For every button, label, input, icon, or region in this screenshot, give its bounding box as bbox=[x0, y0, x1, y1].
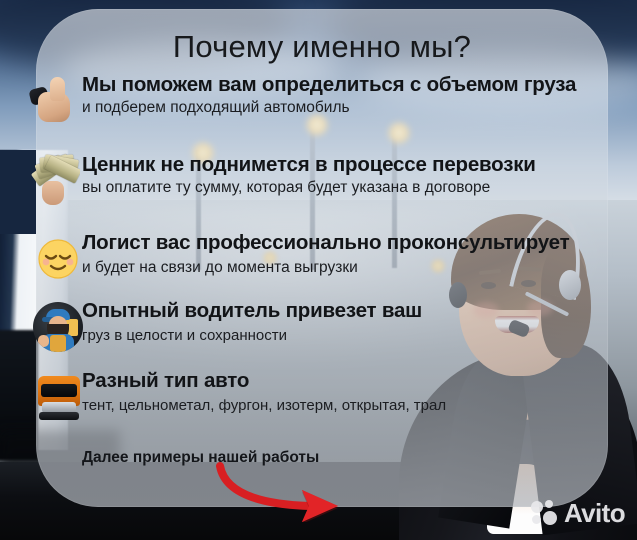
money-in-hand-icon bbox=[28, 153, 80, 205]
page-title: Почему именно мы? bbox=[36, 29, 608, 65]
relieved-face-emoji-icon bbox=[32, 233, 84, 285]
benefit-headline: Мы поможем вам определиться с объемом гр… bbox=[82, 73, 576, 97]
avito-wordmark: Avito bbox=[564, 500, 625, 526]
thumbs-up-icon bbox=[28, 75, 80, 127]
advertisement-banner: Почему именно мы? Мы поможем вам определ… bbox=[0, 0, 637, 540]
benefit-headline: Логист вас профессионально проконсультир… bbox=[82, 231, 569, 255]
benefit-headline: Ценник не поднимется в процессе перевозк… bbox=[82, 153, 536, 177]
content-card: Почему именно мы? Мы поможем вам определ… bbox=[36, 9, 608, 507]
avito-dots-icon bbox=[531, 500, 557, 526]
benefit-subline: и подберем подходящий автомобиль bbox=[82, 99, 350, 117]
benefit-subline: тент, цельнометал, фургон, изотерм, откр… bbox=[82, 397, 446, 414]
benefit-subline: груз в целости и сохранности bbox=[82, 327, 287, 344]
orange-truck-icon bbox=[32, 371, 84, 423]
curved-red-arrow-icon bbox=[214, 462, 360, 522]
benefit-headline: Разный тип авто bbox=[82, 369, 249, 393]
avito-watermark: Avito bbox=[531, 500, 625, 526]
driver-worker-icon bbox=[32, 301, 84, 353]
benefit-subline: вы оплатите ту сумму, которая будет указ… bbox=[82, 179, 490, 197]
benefit-subline: и будет на связи до момента выгрузки bbox=[82, 259, 358, 277]
benefit-headline: Опытный водитель привезет ваш bbox=[82, 299, 422, 323]
